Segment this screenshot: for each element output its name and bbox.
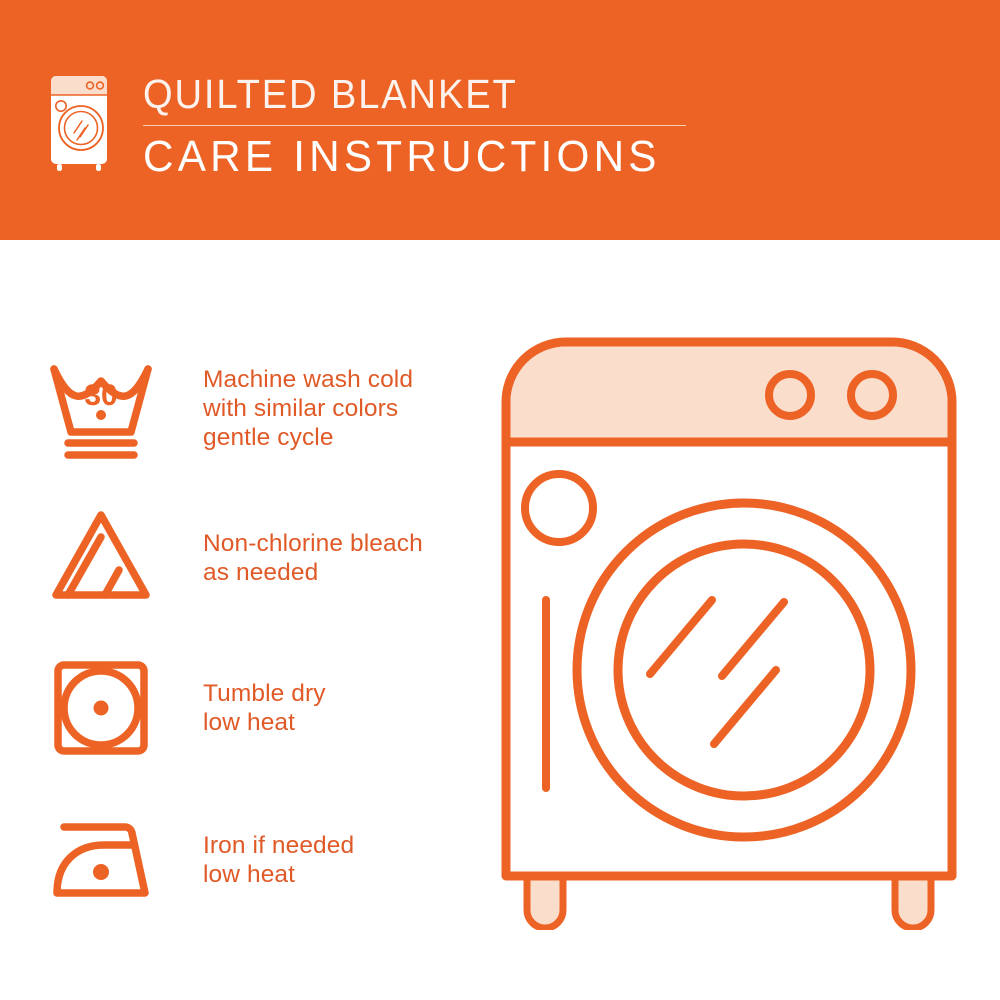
page-title-primary: QUILTED BLANKET xyxy=(143,72,664,116)
care-item-machine-wash: 30 Machine wash cold with similar colors… xyxy=(0,328,490,488)
non-chlorine-bleach-icon xyxy=(42,499,160,617)
header-title-block: QUILTED BLANKET CARE INSTRUCTIONS xyxy=(143,72,703,182)
wash-temperature-value: 30 xyxy=(84,379,117,412)
tumble-dry-low-icon xyxy=(42,649,160,767)
care-item-label: Non-chlorine bleach as needed xyxy=(203,529,423,587)
header-banner: QUILTED BLANKET CARE INSTRUCTIONS xyxy=(0,0,1000,240)
care-item-iron: Iron if needed low heat xyxy=(0,780,490,940)
washing-machine-illustration xyxy=(494,330,964,930)
iron-low-heat-icon xyxy=(42,801,160,919)
care-item-tumble-dry: Tumble dry low heat xyxy=(0,628,490,788)
title-divider xyxy=(143,125,686,126)
care-item-bleach: Non-chlorine bleach as needed xyxy=(0,478,490,638)
care-item-label: Tumble dry low heat xyxy=(203,679,326,737)
care-item-label: Machine wash cold with similar colors ge… xyxy=(203,365,413,452)
page-title-secondary: CARE INSTRUCTIONS xyxy=(143,132,681,182)
machine-wash-30-gentle-icon: 30 xyxy=(42,349,160,467)
care-instruction-list: 30 Machine wash cold with similar colors… xyxy=(0,240,490,1000)
care-item-label: Iron if needed low heat xyxy=(203,831,354,889)
washing-machine-icon xyxy=(46,68,112,174)
